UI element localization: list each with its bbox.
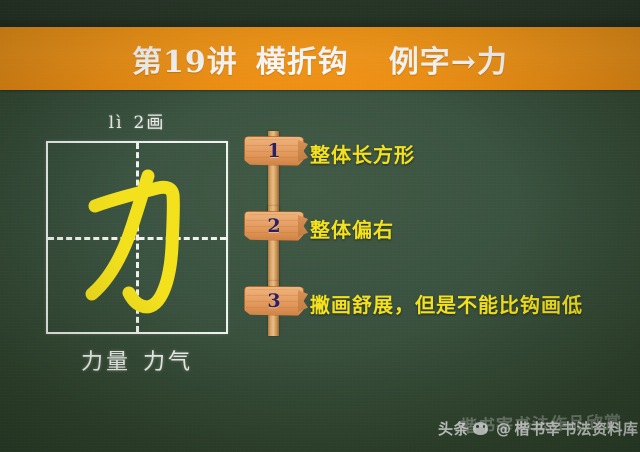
lesson-number: 第19讲 (132, 45, 238, 80)
example-words: 力量力气 (46, 344, 228, 376)
example-character-glyph (48, 143, 226, 332)
lesson-title: 第19讲横折钩例字→力 (132, 37, 508, 81)
tip-number-3: 3 (244, 286, 304, 316)
chalkboard-top-edge (0, 0, 640, 27)
practice-grid-box (46, 141, 228, 334)
tip-number-1: 1 (244, 136, 304, 166)
signpost-plaque-1: 1 (244, 136, 304, 166)
stroke-count-label: 2画 (134, 113, 166, 133)
slide-canvas: 第19讲横折钩例字→力 lì2画 力量力气 1 (0, 0, 640, 452)
signpost-plaque-3: 3 (244, 286, 304, 316)
tip-number-2: 2 (244, 211, 304, 241)
title-banner: 第19讲横折钩例字→力 (0, 27, 640, 90)
example-word-1: 力量 (81, 350, 131, 375)
example-character-label: 例字→力 (389, 45, 508, 80)
example-word-2: 力气 (143, 350, 193, 375)
stroke-name: 横折钩 (256, 45, 349, 80)
tip-text-1: 整体长方形 (310, 139, 415, 168)
pinyin-label: lì (109, 113, 124, 133)
tip-text-3: 撇画舒展，但是不能比钩画低 (310, 289, 583, 318)
tip-text-2: 整体偏右 (310, 214, 394, 243)
pinyin-stroke-row: lì2画 (46, 108, 228, 133)
signpost-plaque-2: 2 (244, 211, 304, 241)
